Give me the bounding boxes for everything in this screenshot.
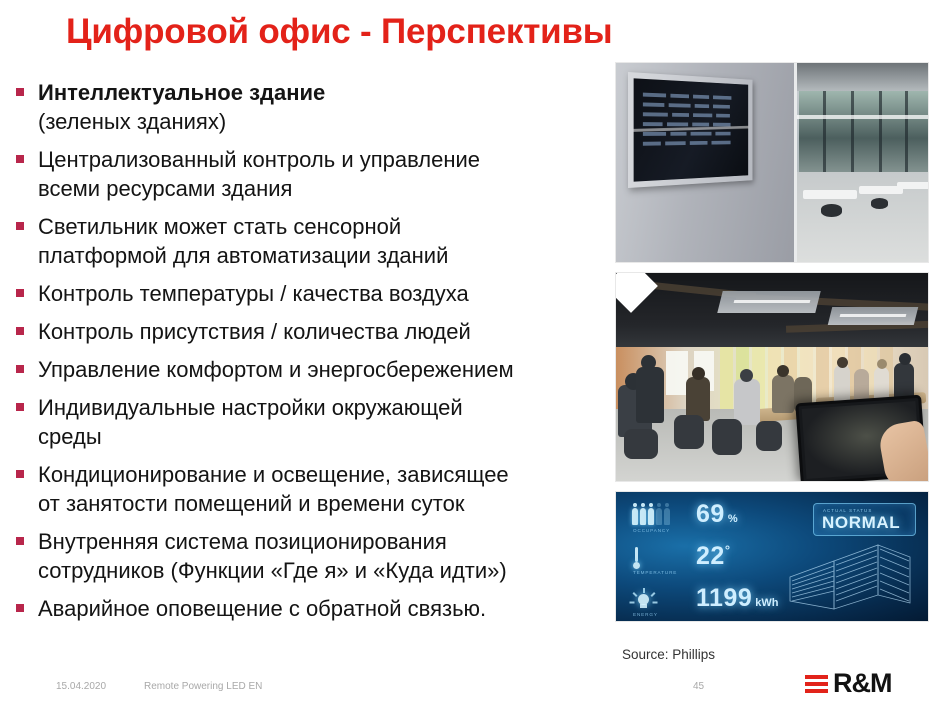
logo-bars-icon — [805, 675, 828, 693]
bullet-square-icon — [16, 470, 24, 478]
office-through-glass — [794, 63, 928, 262]
bullet-line: Контроль присутствия / количества людей — [38, 317, 608, 346]
list-item: Индивидуальные настройки окружающей сред… — [8, 393, 608, 451]
source-caption: Source: Phillips — [622, 647, 715, 662]
list-item: Аварийное оповещение с обратной связью. — [8, 594, 608, 623]
ceiling — [797, 63, 928, 91]
bullet-text: Интеллектуальное здание (зеленых зданиях… — [38, 78, 608, 136]
dashboard-metrics: 69% Occupancy 22° Temperature — [632, 501, 800, 622]
list-item: Светильник может стать сенсорной платфор… — [8, 212, 608, 270]
metric-value: 69% — [696, 500, 738, 529]
list-item: Контроль присутствия / количества людей — [8, 317, 608, 346]
window-glare — [797, 115, 928, 119]
wall-display-screen — [634, 78, 749, 181]
bullet-square-icon — [16, 604, 24, 612]
bullet-line: (зеленых зданиях) — [38, 107, 608, 136]
list-item: Интеллектуальное здание (зеленых зданиях… — [8, 78, 608, 136]
bullet-line: Внутренняя система позиционирования — [38, 527, 608, 556]
bullet-text: Контроль температуры / качества воздуха — [38, 279, 608, 308]
bullet-line: Светильник может стать сенсорной — [38, 212, 608, 241]
list-item: Централизованный контроль и управление в… — [8, 145, 608, 203]
metric-caption: Energy — [633, 612, 658, 617]
building-wireframe-icon — [782, 531, 918, 615]
metric-occupancy: 69% Occupancy — [632, 501, 800, 539]
page-title: Цифровой офис - Перспективы — [66, 12, 612, 52]
people-icon — [632, 503, 684, 529]
metric-energy: 1199kWh Energy — [632, 585, 800, 622]
list-item: Контроль температуры / качества воздуха — [8, 279, 608, 308]
bullet-line: Централизованный контроль и управление — [38, 145, 608, 174]
status-value: NORMAL — [822, 513, 900, 533]
photo-open-office — [615, 272, 929, 482]
metric-value: 22° — [696, 542, 731, 571]
photo-building-dashboard: 69% Occupancy 22° Temperature — [615, 491, 929, 622]
wall-display-frame — [628, 72, 752, 188]
bullet-square-icon — [16, 222, 24, 230]
bullet-line: среды — [38, 422, 608, 451]
bullet-text: Централизованный контроль и управление в… — [38, 145, 608, 203]
bullet-line: Контроль температуры / качества воздуха — [38, 279, 608, 308]
metric-value: 1199kWh — [696, 584, 778, 613]
bullet-text: Контроль присутствия / количества людей — [38, 317, 608, 346]
bullet-line: Интеллектуальное здание — [38, 78, 608, 107]
bullet-square-icon — [16, 327, 24, 335]
bullet-square-icon — [16, 365, 24, 373]
bullet-line: от занятости помещений и времени суток — [38, 489, 608, 518]
footer-date: 15.04.2020 — [56, 681, 106, 692]
bullet-line: платформой для автоматизации зданий — [38, 241, 608, 270]
photo-corridor-display — [615, 62, 929, 263]
lightbulb-icon — [632, 587, 684, 613]
bullet-square-icon — [16, 88, 24, 96]
bullet-square-icon — [16, 403, 24, 411]
list-item: Управление комфортом и энергосбережением — [8, 355, 608, 384]
bullet-text: Светильник может стать сенсорной платфор… — [38, 212, 608, 270]
bullet-square-icon — [16, 155, 24, 163]
display-content — [643, 93, 741, 152]
metric-temperature: 22° Temperature — [632, 543, 800, 581]
ceiling — [616, 273, 928, 347]
bullet-text: Управление комфортом и энергосбережением — [38, 355, 608, 384]
bullet-line: Аварийное оповещение с обратной связью. — [38, 594, 608, 623]
bullet-list: Интеллектуальное здание (зеленых зданиях… — [8, 78, 608, 632]
glass-wall — [799, 91, 929, 177]
logo-text: R&M — [833, 670, 892, 697]
bullet-text: Внутренняя система позиционирования сотр… — [38, 527, 608, 585]
bullet-square-icon — [16, 289, 24, 297]
bullet-line: Управление комфортом и энергосбережением — [38, 355, 608, 384]
list-item: Внутренняя система позиционирования сотр… — [8, 527, 608, 585]
footer-document-title: Remote Powering LED EN — [144, 681, 262, 692]
thermometer-icon — [632, 545, 684, 571]
metric-caption: Temperature — [633, 570, 677, 575]
metric-caption: Occupancy — [633, 528, 670, 533]
image-column: 69% Occupancy 22° Temperature — [615, 62, 929, 622]
bullet-line: всеми ресурсами здания — [38, 174, 608, 203]
floor — [797, 172, 928, 262]
bullet-text: Аварийное оповещение с обратной связью. — [38, 594, 608, 623]
rm-logo: R&M — [805, 670, 892, 697]
list-item: Кондиционирование и освещение, зависящее… — [8, 460, 608, 518]
bullet-line: Кондиционирование и освещение, зависящее — [38, 460, 608, 489]
page-number: 45 — [693, 681, 704, 692]
bullet-text: Индивидуальные настройки окружающей сред… — [38, 393, 608, 451]
bullet-square-icon — [16, 537, 24, 545]
bullet-line: сотрудников (Функции «Где я» и «Куда идт… — [38, 556, 608, 585]
bullet-line: Индивидуальные настройки окружающей — [38, 393, 608, 422]
bullet-text: Кондиционирование и освещение, зависящее… — [38, 460, 608, 518]
